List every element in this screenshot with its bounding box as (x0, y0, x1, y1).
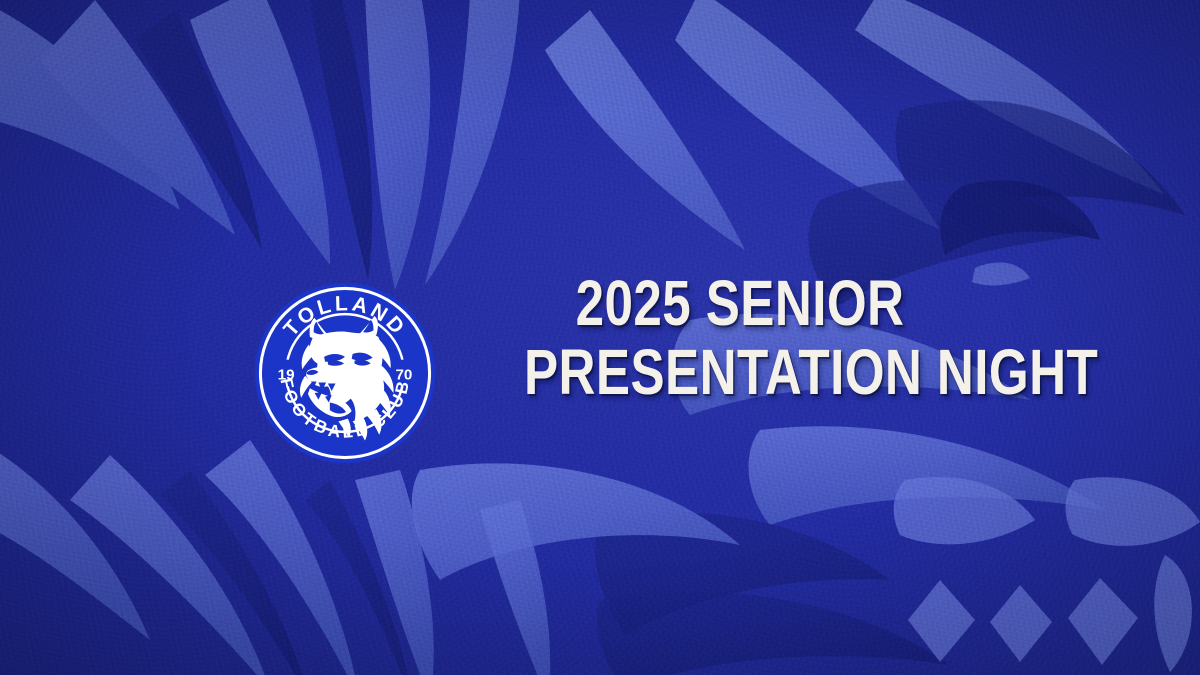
headline-line-1: 2025 SENIOR (524, 272, 956, 335)
headline-block: 2025 SENIOR PRESENTATION NIGHT (470, 272, 1010, 403)
crest-year-right: 70 (395, 367, 412, 384)
club-crest: TOLLAND FOOTBALL CLUB 19 70 (250, 278, 440, 468)
headline-line-2: PRESENTATION NIGHT (524, 341, 956, 404)
event-banner: TOLLAND FOOTBALL CLUB 19 70 (0, 0, 1200, 675)
crest-year-left: 19 (278, 367, 295, 384)
